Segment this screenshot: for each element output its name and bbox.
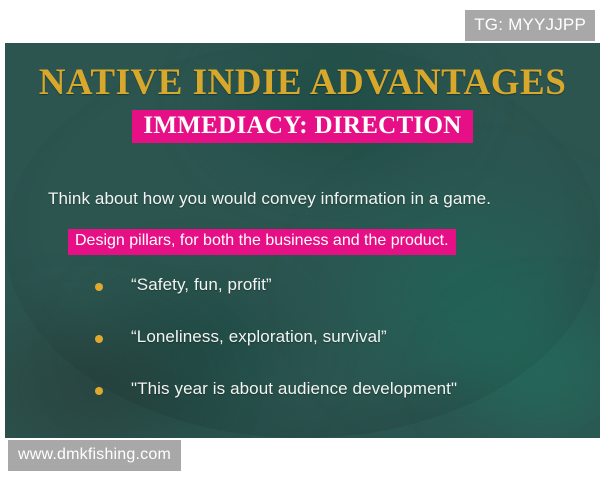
slide-subtitle-highlight: IMMEDIACY: DIRECTION: [132, 110, 472, 143]
presentation-slide: NATIVE INDIE ADVANTAGES IMMEDIACY: DIREC…: [5, 43, 600, 438]
list-item: “Safety, fun, profit”: [95, 275, 575, 327]
list-item-label: “Loneliness, exploration, survival”: [131, 327, 387, 347]
bullet-dot-icon: [95, 335, 103, 343]
list-item: "This year is about audience development…: [95, 379, 575, 431]
list-item-label: “Safety, fun, profit”: [131, 275, 272, 295]
list-item: “Loneliness, exploration, survival”: [95, 327, 575, 379]
screenshot-root: NATIVE INDIE ADVANTAGES IMMEDIACY: DIREC…: [0, 0, 600, 480]
watermark-top-right: TG: MYYJJPP: [465, 10, 595, 41]
slide-highlighted-row: Design pillars, for both the business an…: [68, 229, 456, 255]
slide-bullet-list: “Safety, fun, profit” “Loneliness, explo…: [95, 275, 575, 431]
slide-lead-line: Think about how you would convey informa…: [48, 189, 491, 209]
bullet-dot-icon: [95, 283, 103, 291]
slide-title: NATIVE INDIE ADVANTAGES: [5, 61, 600, 104]
list-item-label: "This year is about audience development…: [131, 379, 457, 399]
slide-content: NATIVE INDIE ADVANTAGES IMMEDIACY: DIREC…: [5, 43, 600, 438]
bullet-dot-icon: [95, 387, 103, 395]
watermark-bottom-left: www.dmkfishing.com: [8, 440, 181, 471]
slide-subtitle-row: IMMEDIACY: DIRECTION: [5, 110, 600, 143]
slide-highlighted-line: Design pillars, for both the business an…: [68, 229, 456, 255]
